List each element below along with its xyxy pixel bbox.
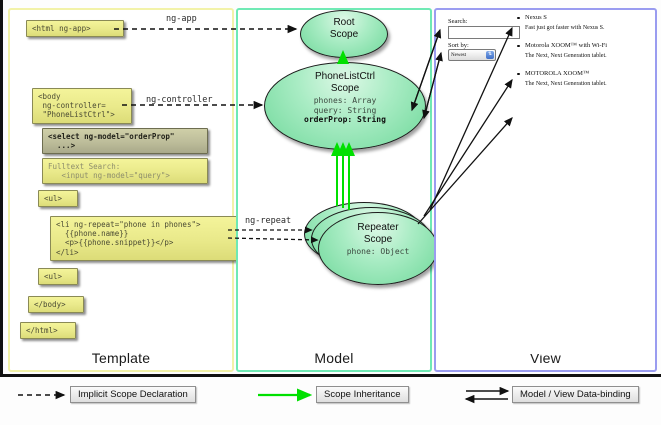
list-item[interactable]: MOTOROLA XOOM™ The Next, Next Generation…: [516, 70, 644, 87]
view-search-input[interactable]: [448, 26, 520, 39]
scope-root-title-1: Root: [301, 17, 387, 29]
scope-ctrl-prop-phones: phones: Array: [265, 96, 425, 106]
panel-label-template: Template: [10, 350, 232, 366]
legend-line-databinding: [466, 391, 508, 399]
code-box-li-ng-repeat[interactable]: <li ng-repeat="phone in phones"> {{phone…: [50, 216, 238, 261]
code-box-body[interactable]: <body ng-controller= "PhoneListCtrl">: [32, 88, 132, 124]
code-box-ul-close[interactable]: <ul>: [38, 268, 78, 285]
view-rendered-app: Search: Sort by: Newest ⇅ Nexus S Fast j…: [444, 14, 643, 354]
scope-root-title-2: Scope: [301, 29, 387, 41]
list-item[interactable]: Motorola XOOM™ with Wi-Fi The Next, Next…: [516, 42, 644, 59]
diagram-root: Template <html ng-app> <body ng-controll…: [0, 0, 661, 425]
view-sort-select[interactable]: Newest ⇅: [448, 49, 496, 61]
panel-label-model: Model: [238, 350, 430, 366]
legend-label-databinding: Model / View Data-binding: [512, 386, 639, 403]
view-search-label: Search:: [448, 18, 512, 25]
frame-bottom-rule: [0, 374, 661, 377]
legend-label-implicit: Implicit Scope Declaration: [70, 386, 196, 403]
scope-repeater[interactable]: Repeater Scope phone: Object: [318, 212, 438, 285]
connector-label-ng-app: ng-app: [166, 14, 197, 24]
scope-root[interactable]: Root Scope: [300, 10, 388, 58]
list-item[interactable]: Nexus S Fast just got faster with Nexus …: [516, 14, 644, 31]
code-box-html-close[interactable]: </html>: [20, 322, 76, 339]
scope-phonelistctrl[interactable]: PhoneListCtrl Scope phones: Array query:…: [264, 62, 426, 150]
scope-ctrl-title-1: PhoneListCtrl: [265, 71, 425, 83]
scope-ctrl-title-2: Scope: [265, 83, 425, 95]
code-box-body-close[interactable]: </body>: [28, 296, 84, 313]
scope-repeater-title-2: Scope: [319, 234, 437, 246]
legend-label-inheritance: Scope Inheritance: [316, 386, 409, 403]
code-box-search-input[interactable]: Fulltext Search: <input ng-model="query"…: [42, 158, 208, 184]
code-box-html[interactable]: <html ng-app>: [26, 20, 124, 37]
scope-repeater-title-1: Repeater: [319, 222, 437, 234]
phone-snippet: Fast just got faster with Nexus S.: [516, 25, 644, 31]
connector-label-ng-controller: ng-controller: [146, 95, 213, 105]
view-sort-label: Sort by:: [448, 42, 512, 49]
scope-ctrl-prop-orderprop: orderProp: String: [304, 115, 386, 124]
legend: Implicit Scope Declaration Scope Inherit…: [0, 380, 661, 425]
chevron-updown-icon: ⇅: [486, 51, 494, 59]
phone-snippet: The Next, Next Generation tablet.: [516, 81, 644, 87]
code-box-ul-open[interactable]: <ul>: [38, 190, 78, 207]
frame-left-edge: [0, 0, 3, 375]
scope-repeater-prop-phone: phone: Object: [319, 247, 437, 257]
scope-ctrl-prop-query: query: String: [265, 106, 425, 116]
code-box-select[interactable]: <select ng-model="orderProp" ...>: [42, 128, 208, 154]
phone-name: MOTOROLA XOOM™: [516, 70, 644, 77]
view-phone-list: Nexus S Fast just got faster with Nexus …: [516, 14, 644, 98]
phone-snippet: The Next, Next Generation tablet.: [516, 53, 644, 59]
view-sort-selected-value: Newest: [451, 53, 466, 58]
phone-name: Nexus S: [516, 14, 644, 21]
connector-label-ng-repeat: ng-repeat: [245, 216, 291, 226]
phone-name: Motorola XOOM™ with Wi-Fi: [516, 42, 644, 49]
